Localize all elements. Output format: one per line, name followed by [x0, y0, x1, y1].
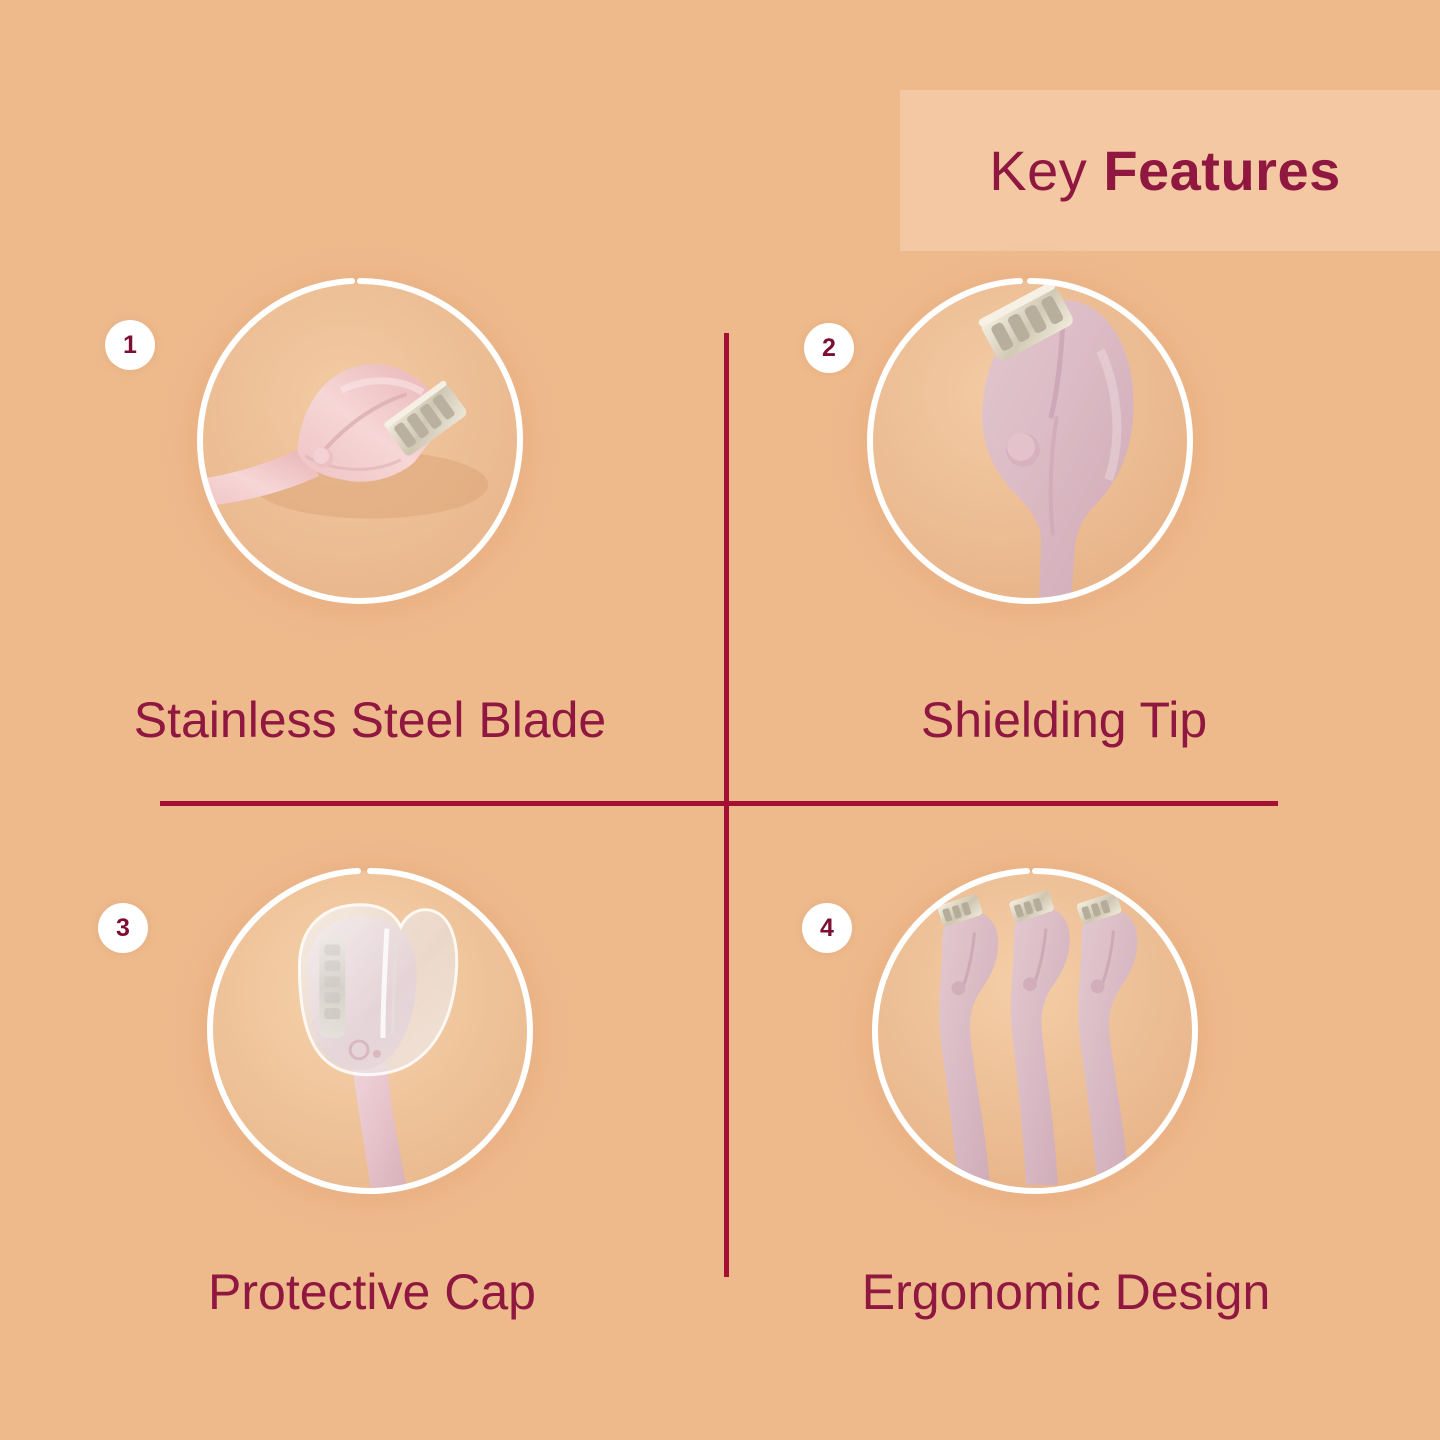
feature-number-3: 3: [116, 916, 130, 941]
feature-label-2: Shielding Tip: [754, 695, 1374, 745]
feature-1-image-wrap: [180, 265, 540, 625]
feature-3-image-wrap: [190, 855, 550, 1215]
feature-number-badge-1: 1: [105, 320, 155, 370]
feature-number-4: 4: [820, 916, 834, 941]
page-title-space: [1087, 139, 1103, 202]
feature-label-3: Protective Cap: [62, 1267, 682, 1317]
feature-number-2: 2: [822, 336, 836, 361]
infographic-canvas: Key Features: [0, 0, 1440, 1440]
feature-cell-1: 1 Stainless Steel Blade: [60, 265, 680, 925]
page-title-bold: Features: [1103, 139, 1340, 202]
feature-cell-2: 2 Shielding Tip: [760, 265, 1380, 925]
page-title-light: Key: [989, 139, 1087, 202]
three-ergonomic-razors-image: [877, 871, 1195, 1189]
feature-2-image-wrap: [850, 265, 1210, 625]
razor-blade-head-closeup-image: [202, 281, 520, 599]
feature-number-badge-4: 4: [802, 903, 852, 953]
feature-number-badge-2: 2: [804, 323, 854, 373]
page-title: Key Features: [989, 143, 1351, 199]
feature-cell-3: 3 Protective Cap: [60, 855, 680, 1440]
feature-number-badge-3: 3: [98, 903, 148, 953]
feature-number-1: 1: [123, 333, 137, 358]
key-features-header-band: Key Features: [900, 90, 1440, 251]
vertical-divider: [724, 333, 729, 1277]
razor-with-protective-cap-image: [212, 871, 530, 1189]
feature-cell-4: 4 Ergonomic Design: [760, 855, 1380, 1440]
feature-label-1: Stainless Steel Blade: [60, 695, 680, 745]
feature-4-image-wrap: [855, 855, 1215, 1215]
razor-shielding-tip-closeup-image: [872, 281, 1190, 599]
feature-label-4: Ergonomic Design: [756, 1267, 1376, 1317]
